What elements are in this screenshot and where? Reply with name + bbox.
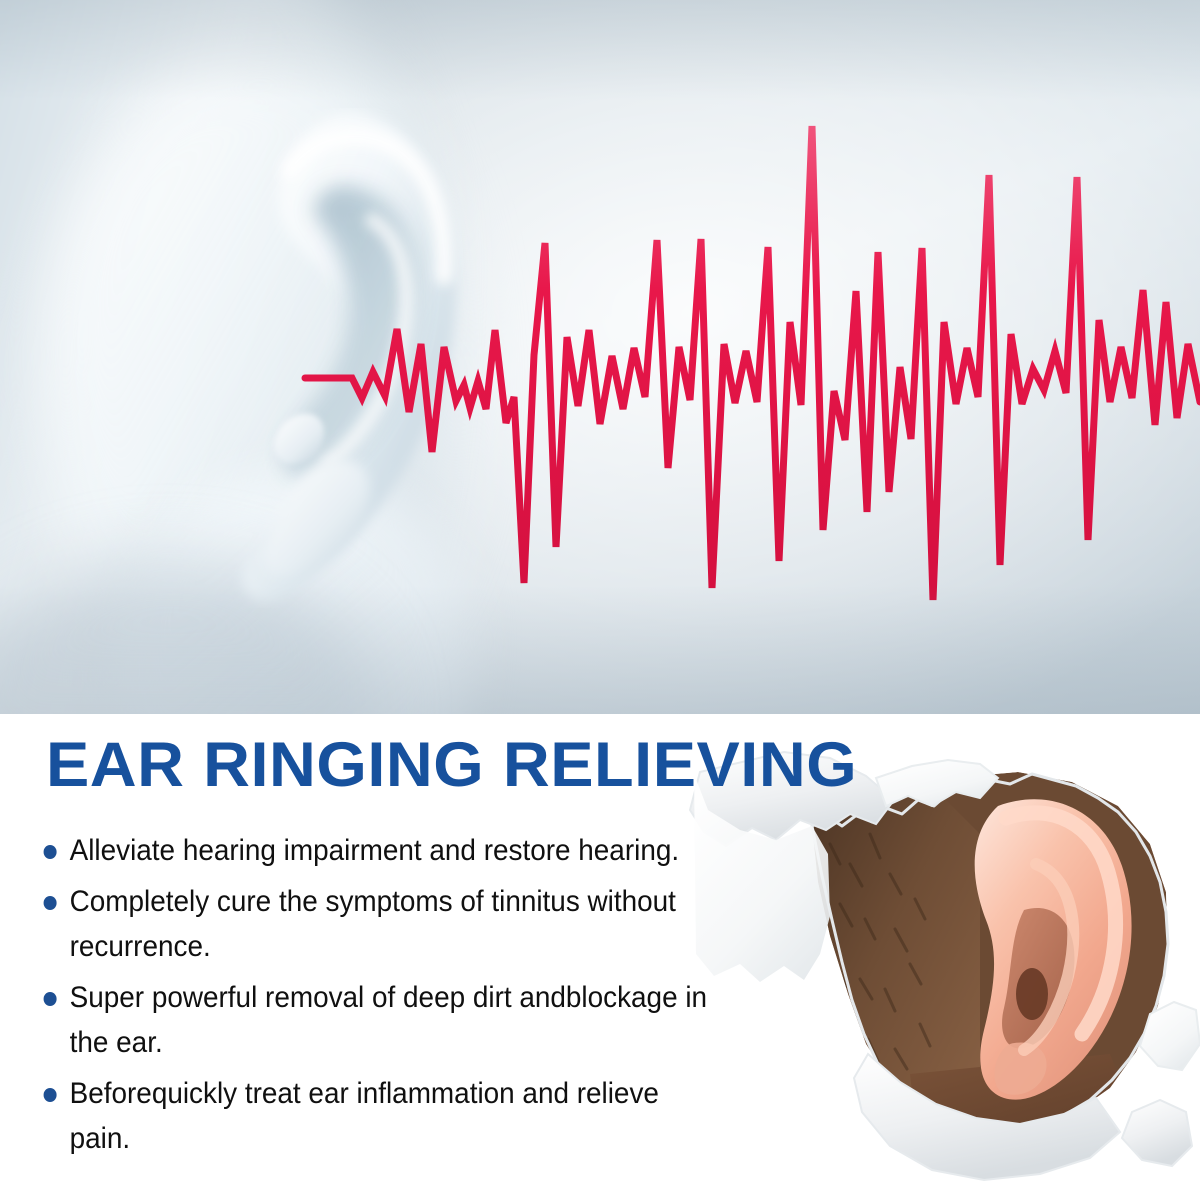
list-item-label: Alleviate hearing impairment and restore… [70, 834, 679, 867]
bullet-dot-icon [44, 992, 57, 1006]
benefit-list: Alleviate hearing impairment and restore… [38, 828, 778, 1167]
list-item: Beforequickly treat ear inflammation and… [38, 1071, 726, 1161]
list-item-label: Completely cure the symptoms of tinnitus… [70, 885, 676, 963]
list-item: Alleviate hearing impairment and restore… [38, 828, 726, 873]
waveform-polyline [305, 126, 1200, 600]
product-feature-banner: EAR RINGING RELIEVING Alleviate hearing … [0, 0, 1200, 1200]
bullet-dot-icon [44, 1088, 57, 1102]
list-item-label: Beforequickly treat ear inflammation and… [70, 1077, 659, 1155]
list-item: Completely cure the symptoms of tinnitus… [38, 879, 726, 969]
bullet-dot-icon [44, 896, 57, 910]
soundwave-waveform-graphic [0, 0, 1200, 714]
ear-photo-canal [1016, 968, 1048, 1020]
info-panel: EAR RINGING RELIEVING Alleviate hearing … [0, 714, 1200, 1200]
page-title: EAR RINGING RELIEVING [46, 734, 857, 797]
list-item: Super powerful removal of deep dirt andb… [38, 975, 726, 1065]
bullet-dot-icon [44, 845, 57, 859]
list-item-label: Super powerful removal of deep dirt andb… [70, 981, 707, 1059]
hero-image-panel [0, 0, 1200, 714]
